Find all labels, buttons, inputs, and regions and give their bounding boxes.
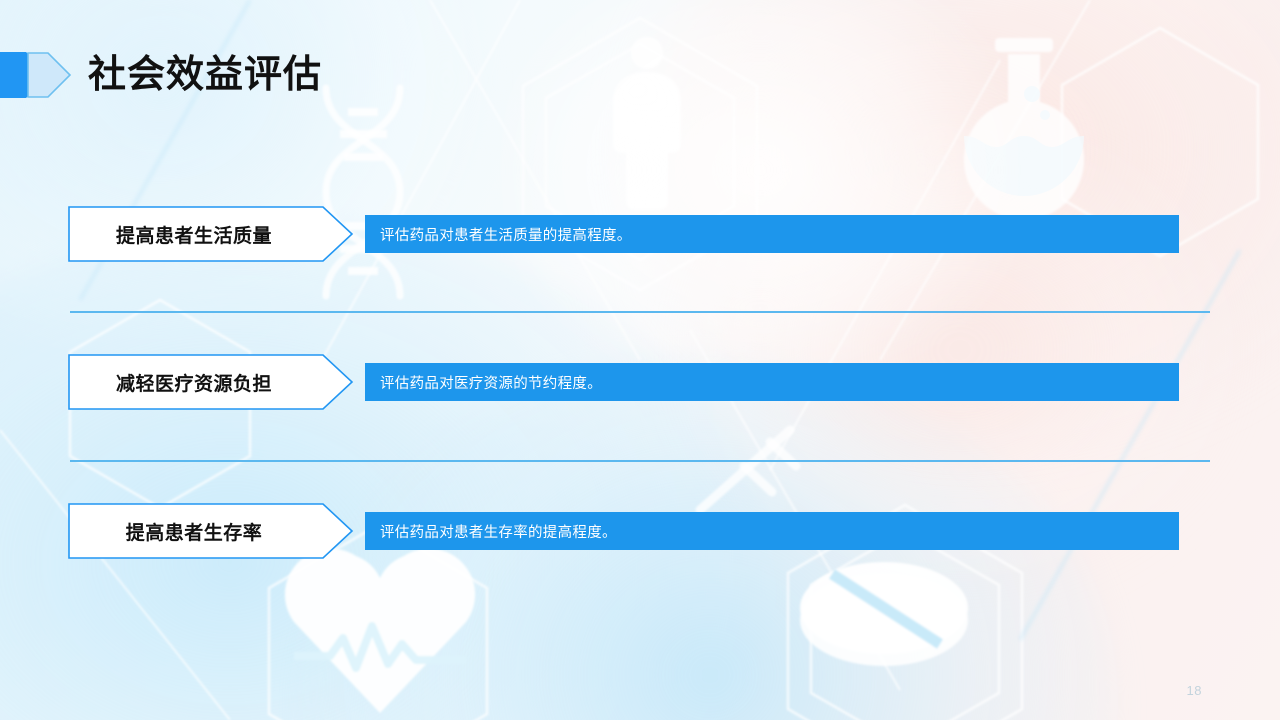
page-number: 18 — [1187, 683, 1202, 698]
benefit-description-text-1: 评估药品对患者生活质量的提高程度。 — [380, 224, 632, 245]
benefit-row-2: 减轻医疗资源负担 评估药品对医疗资源的节约程度。 — [68, 354, 1180, 410]
heart-ecg-icon — [285, 549, 475, 713]
benefit-description-text-2: 评估药品对医疗资源的节约程度。 — [380, 372, 602, 393]
benefit-description-bar-1: 评估药品对患者生活质量的提高程度。 — [365, 215, 1179, 253]
benefit-row-3: 提高患者生存率 评估药品对患者生存率的提高程度。 — [68, 503, 1180, 559]
benefit-tag-label-2: 减轻医疗资源负担 — [68, 354, 320, 410]
double-chevron-right-icon — [0, 48, 72, 102]
benefit-tag-2[interactable]: 减轻医疗资源负担 — [68, 354, 354, 410]
benefit-tag-label-3: 提高患者生存率 — [68, 503, 320, 559]
benefit-tag-3[interactable]: 提高患者生存率 — [68, 503, 354, 559]
slide-title-group: 社会效益评估 — [0, 48, 322, 102]
dna-helix-icon — [326, 88, 400, 296]
row-divider-1 — [70, 311, 1210, 313]
benefit-description-text-3: 评估药品对患者生存率的提高程度。 — [380, 521, 617, 542]
slide-canvas: 社会效益评估 提高患者生活质量 评估药品对患者生活质量的提高程度。 减轻医疗资源… — [0, 0, 1280, 720]
background-sheen — [500, 0, 1020, 380]
benefit-row-1: 提高患者生活质量 评估药品对患者生活质量的提高程度。 — [68, 206, 1180, 262]
pill-tablet-icon — [800, 562, 968, 666]
benefit-tag-1[interactable]: 提高患者生活质量 — [68, 206, 354, 262]
row-divider-2 — [70, 460, 1210, 462]
benefit-tag-label-1: 提高患者生活质量 — [68, 206, 320, 262]
benefit-description-bar-3: 评估药品对患者生存率的提高程度。 — [365, 512, 1179, 550]
page-title: 社会效益评估 — [88, 56, 322, 94]
benefit-description-bar-2: 评估药品对医疗资源的节约程度。 — [365, 363, 1179, 401]
syringe-icon — [700, 430, 796, 510]
